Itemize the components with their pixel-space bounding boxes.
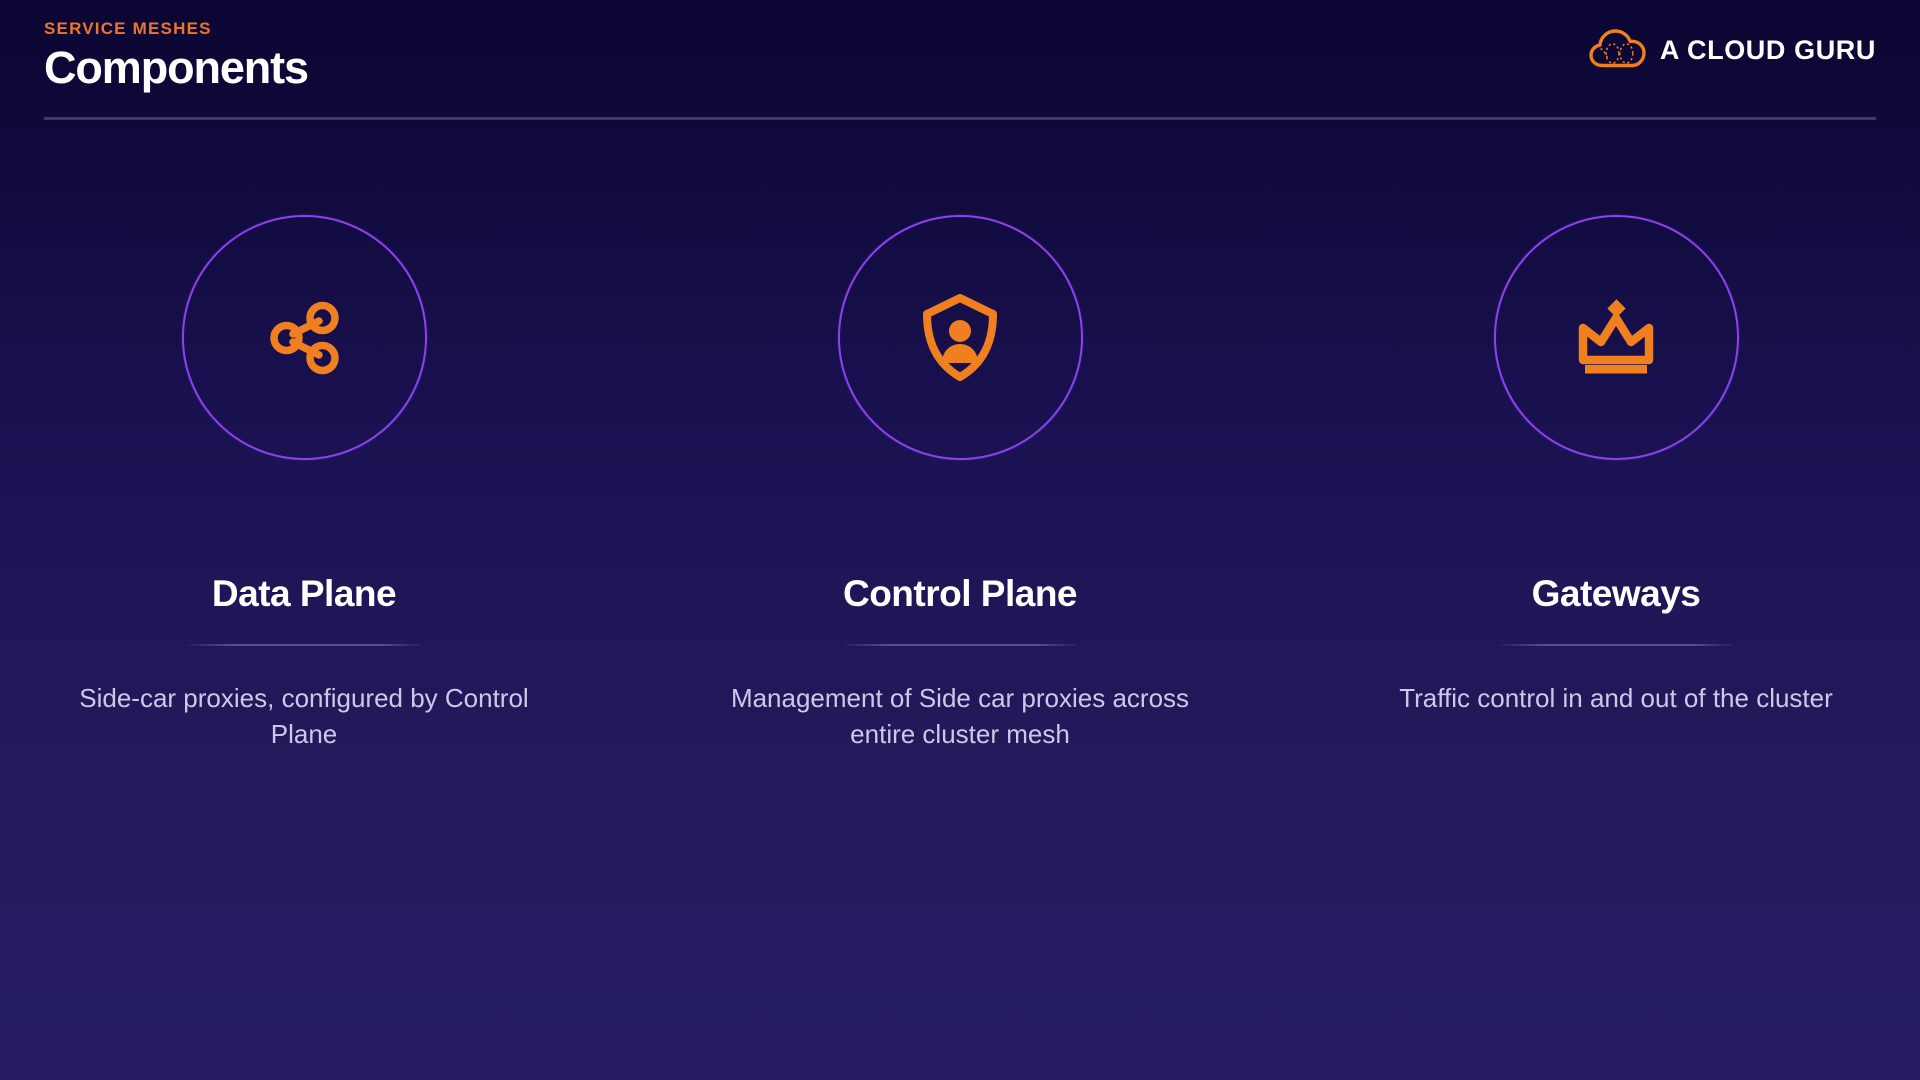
brand-name: A CLOUD GURU [1660, 35, 1876, 66]
header-title-block: SERVICE MESHES Components [44, 20, 308, 91]
component-description: Traffic control in and out of the cluste… [1399, 680, 1833, 716]
component-divider [845, 644, 1076, 646]
component-title: Control Plane [843, 574, 1077, 615]
component-title: Gateways [1532, 574, 1701, 615]
component-card-data-plane: Data Plane Side-car proxies, configured … [68, 215, 541, 752]
icon-ring-control-plane [838, 215, 1083, 460]
crown-icon [1572, 298, 1660, 378]
icon-ring-data-plane [182, 215, 427, 460]
slide-header: SERVICE MESHES Components A CLOUD GURU [0, 0, 1920, 120]
page-title: Components [44, 44, 308, 91]
component-title: Data Plane [212, 574, 396, 615]
component-description: Management of Side car proxies across en… [725, 680, 1195, 752]
share-network-icon [262, 296, 346, 380]
cloud-icon [1588, 27, 1646, 74]
component-card-control-plane: Control Plane Management of Side car pro… [724, 215, 1197, 752]
icon-ring-gateways [1494, 215, 1739, 460]
brand-logo: A CLOUD GURU [1588, 27, 1876, 74]
component-description: Side-car proxies, configured by Control … [69, 680, 539, 752]
eyebrow-label: SERVICE MESHES [44, 20, 308, 37]
component-divider [189, 644, 420, 646]
header-divider [44, 117, 1876, 120]
shield-person-icon [918, 293, 1002, 383]
component-card-gateways: Gateways Traffic control in and out of t… [1380, 215, 1853, 716]
components-grid: Data Plane Side-car proxies, configured … [0, 215, 1920, 752]
component-divider [1501, 644, 1732, 646]
